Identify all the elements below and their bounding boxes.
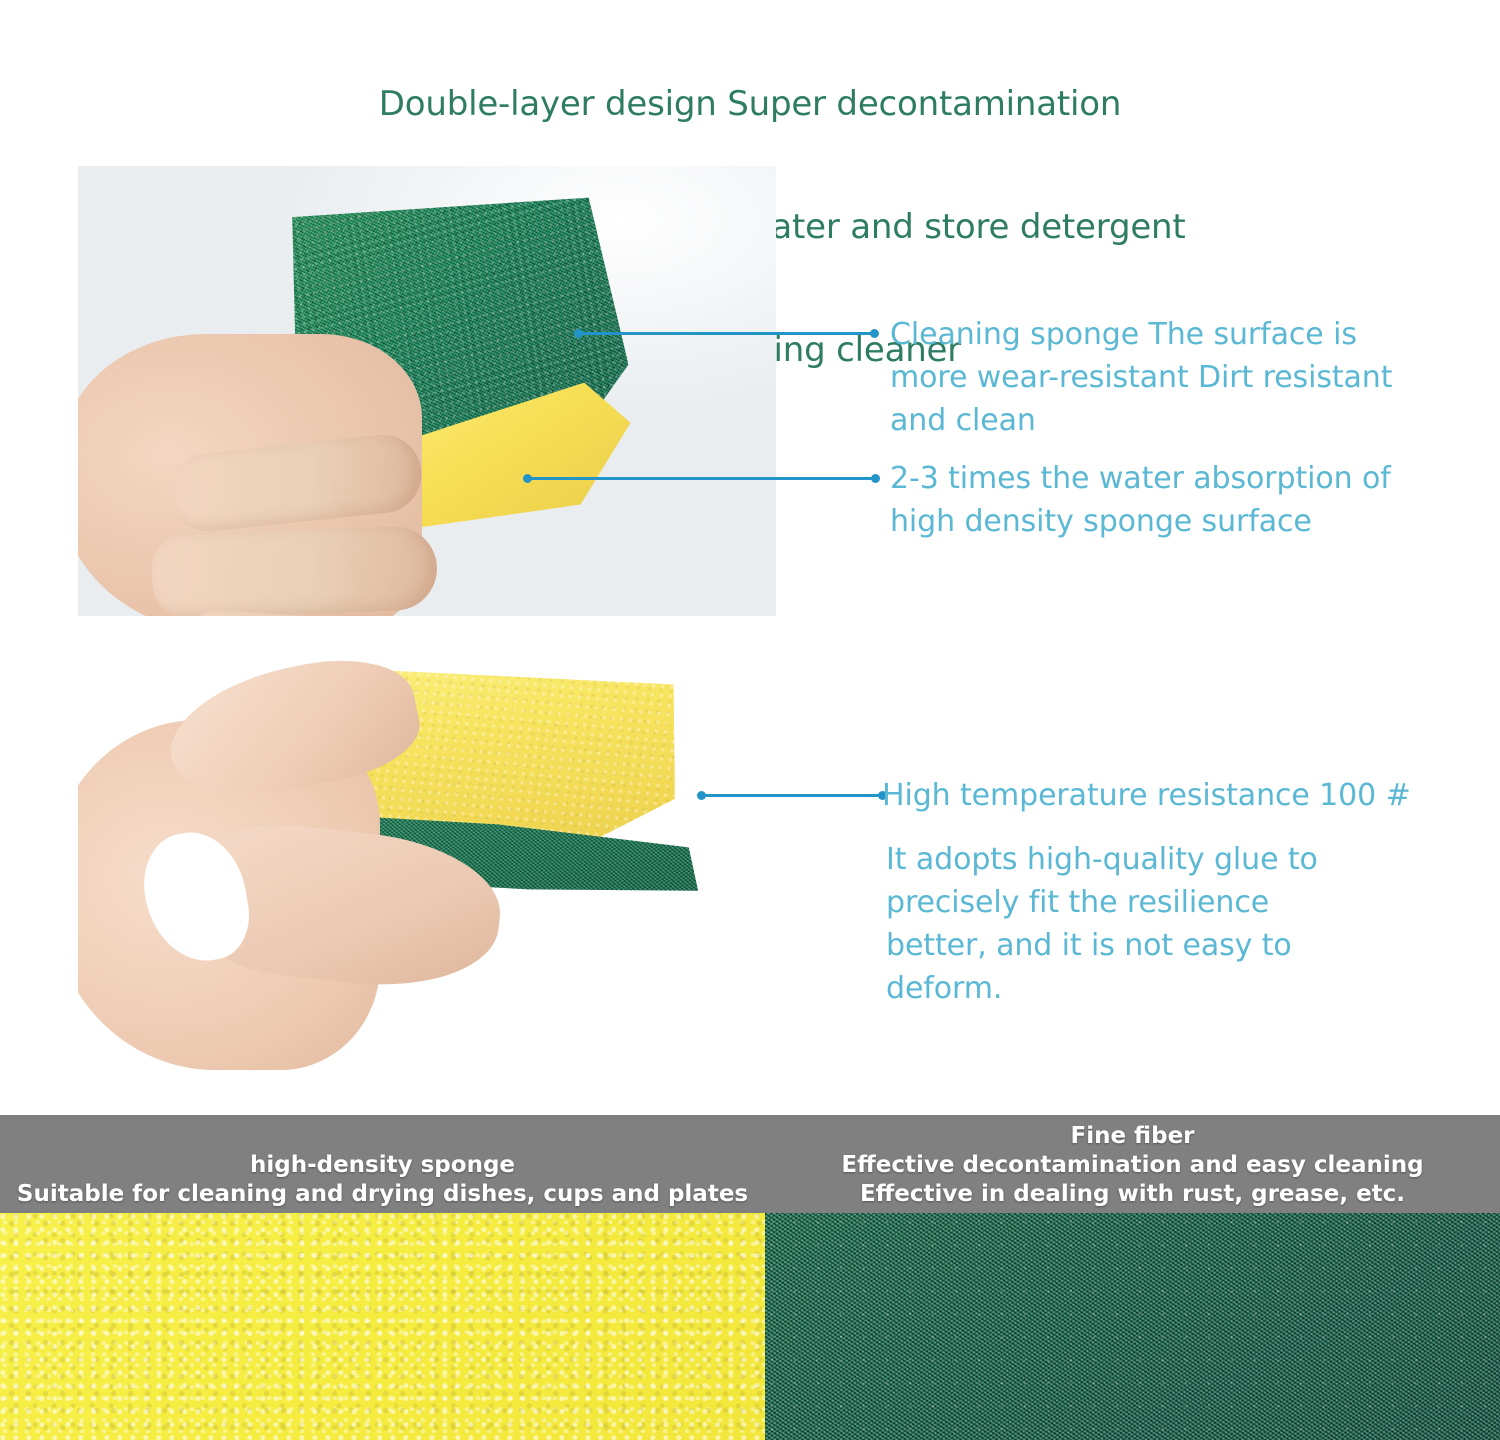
feature-banner-row: high-density sponge Suitable for cleanin…	[0, 1115, 1500, 1213]
banner-left-heading: high-density sponge	[250, 1151, 515, 1180]
banner-left-description: Suitable for cleaning and drying dishes,…	[17, 1180, 748, 1209]
callout-anchor-dot-3	[697, 791, 706, 800]
callout-anchor-dot-1	[574, 329, 583, 338]
finger-middle	[151, 525, 439, 616]
banner-right-heading: Fine fiber	[1070, 1122, 1194, 1151]
callout-text-high-temperature-resistance: High temperature resistance 100 #	[882, 774, 1492, 817]
photo-hand-holding-green-scrub-side	[78, 166, 776, 616]
hand-graphic	[78, 334, 522, 616]
callout-leader-line-3	[700, 794, 882, 797]
banner-fine-fiber: Fine fiber Effective decontamination and…	[765, 1115, 1500, 1213]
callout-leader-line-1	[578, 332, 876, 335]
hand-graphic	[78, 650, 520, 1080]
texture-row	[0, 1213, 1500, 1440]
callout-end-dot-2	[871, 474, 880, 483]
callout-end-dot-1	[870, 329, 879, 338]
page-title-line-1: Double-layer design Super decontaminatio…	[0, 84, 1500, 125]
banner-high-density-sponge: high-density sponge Suitable for cleanin…	[0, 1115, 765, 1213]
banner-right-description: Effective decontamination and easy clean…	[841, 1151, 1423, 1209]
callout-text-high-quality-glue: It adopts high-quality glue to precisely…	[886, 838, 1406, 1010]
callout-leader-line-2	[527, 477, 877, 480]
yellow-sponge-texture	[0, 1213, 765, 1440]
callout-text-cleaning-sponge-surface: Cleaning sponge The surface is more wear…	[890, 313, 1490, 442]
photo-hand-holding-yellow-sponge-side	[78, 640, 776, 1090]
callout-anchor-dot-2	[523, 474, 532, 483]
green-fiber-texture	[765, 1213, 1500, 1440]
callout-text-water-absorption: 2-3 times the water absorption of high d…	[890, 457, 1490, 543]
